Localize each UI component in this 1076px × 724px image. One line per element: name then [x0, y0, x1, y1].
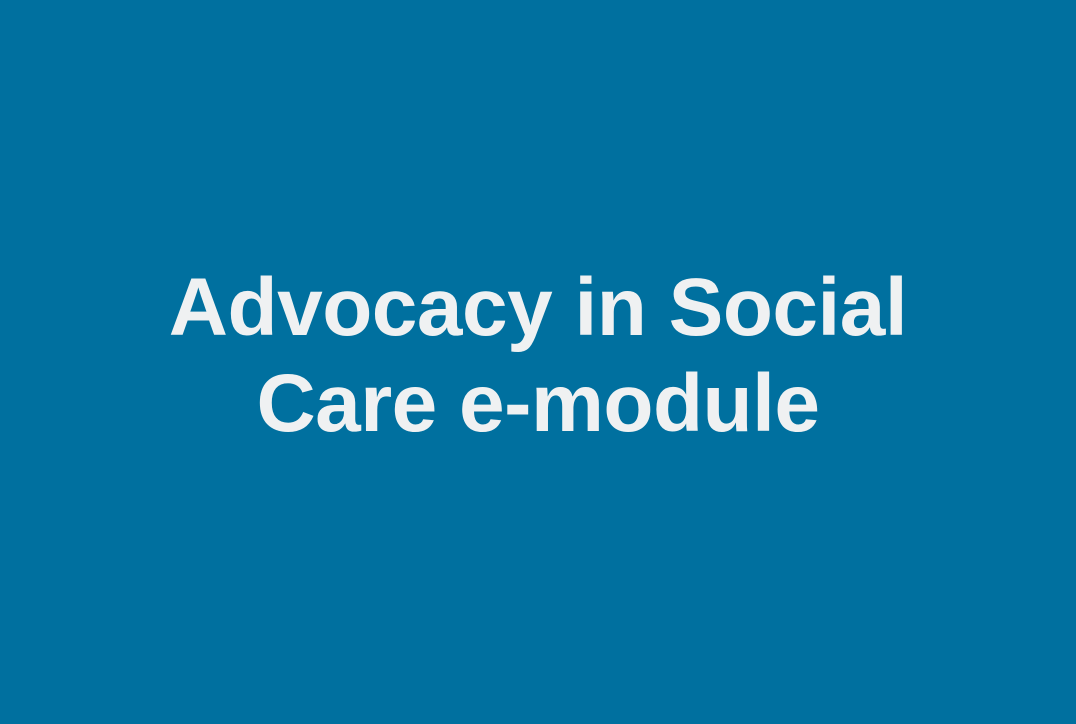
page-title-line-1: Advocacy in Social — [40, 260, 1036, 356]
title-slide: Advocacy in Social Care e-module — [0, 0, 1076, 724]
page-title-line-2: Care e-module — [40, 356, 1036, 452]
page-title: Advocacy in Social Care e-module — [0, 260, 1076, 452]
